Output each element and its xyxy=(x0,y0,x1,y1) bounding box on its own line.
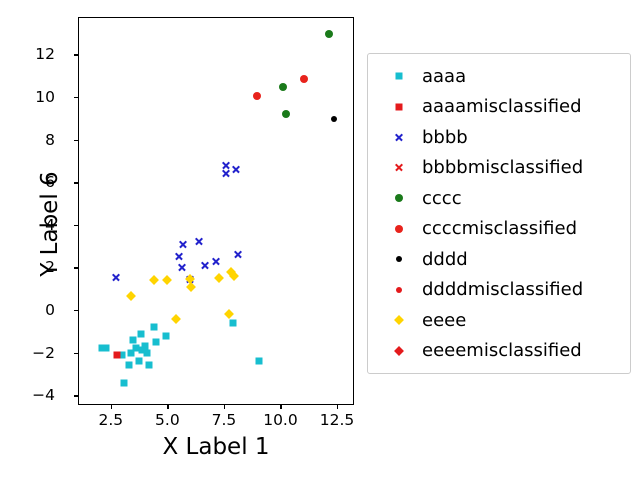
x-tick-label: 10.0 xyxy=(263,411,298,429)
data-point-aaaa xyxy=(125,362,132,369)
data-point-bbbb xyxy=(112,273,121,282)
data-point-aaaa xyxy=(143,349,150,356)
legend-item-dddd[interactable]: dddd xyxy=(376,244,622,275)
y-tick-label: 2 xyxy=(45,258,55,276)
legend-item-label: aaaa xyxy=(422,66,466,87)
y-tick-label: 4 xyxy=(45,216,55,234)
data-point-cccc xyxy=(282,110,290,118)
data-point-dddd xyxy=(331,116,337,122)
legend-item-bbbbmisclassified[interactable]: bbbbmisclassified xyxy=(376,153,622,184)
legend-marker-star-icon xyxy=(396,256,402,262)
data-point-eeee xyxy=(171,314,181,324)
y-tick-label: −4 xyxy=(32,386,55,404)
legend-marker-square-icon xyxy=(396,103,403,110)
legend-marker-star-icon xyxy=(376,244,422,275)
legend-marker-diamond-icon xyxy=(376,336,422,367)
legend-marker-x-icon xyxy=(395,133,404,142)
y-tick-label: 12 xyxy=(35,45,55,63)
legend-item-cccc[interactable]: cccc xyxy=(376,183,622,214)
data-point-aaaa xyxy=(146,362,153,369)
legend-marker-star-icon xyxy=(396,287,402,293)
legend-marker-diamond-icon xyxy=(376,305,422,336)
data-point-bbbb xyxy=(194,237,203,246)
y-tick-label: 10 xyxy=(35,88,55,106)
x-tick-label: 2.5 xyxy=(98,411,123,429)
legend-item-label: bbbb xyxy=(422,127,468,148)
legend-marker-square-icon xyxy=(376,61,422,92)
legend-marker-diamond-icon xyxy=(394,346,404,356)
y-tick-label: −2 xyxy=(32,344,55,362)
x-tick-mark xyxy=(337,405,338,409)
legend-marker-square-icon xyxy=(376,92,422,123)
plot-axes-frame xyxy=(78,17,354,405)
x-tick-label: 5.0 xyxy=(155,411,180,429)
legend-item-aaaamisclassified[interactable]: aaaamisclassified xyxy=(376,92,622,123)
y-tick-label: 8 xyxy=(45,131,55,149)
legend-item-ccccmisclassified[interactable]: ccccmisclassified xyxy=(376,214,622,245)
legend: aaaaaaaamisclassifiedbbbbbbbbmisclassifi… xyxy=(367,53,631,374)
data-point-aaaa xyxy=(163,332,170,339)
data-point-ccccmisclassified xyxy=(300,75,308,83)
legend-item-label: ddddmisclassified xyxy=(422,279,583,300)
data-point-aaaa xyxy=(135,358,142,365)
data-point-bbbb xyxy=(234,250,243,259)
data-point-ccccmisclassified xyxy=(253,92,261,100)
data-point-cccc xyxy=(325,30,333,38)
legend-marker-circle-icon xyxy=(376,214,422,245)
data-point-eeee xyxy=(126,291,136,301)
legend-marker-x-icon xyxy=(395,163,404,172)
data-points-layer xyxy=(79,18,353,404)
data-point-aaaa xyxy=(103,345,110,352)
legend-marker-circle-icon xyxy=(395,194,403,202)
legend-marker-star-icon xyxy=(376,275,422,306)
x-tick-label: 7.5 xyxy=(212,411,237,429)
legend-item-label: bbbbmisclassified xyxy=(422,157,583,178)
data-point-cccc xyxy=(279,83,287,91)
data-point-aaaa xyxy=(152,339,159,346)
data-point-aaaa xyxy=(150,324,157,331)
data-point-aaaa xyxy=(229,319,236,326)
data-point-eeee xyxy=(214,273,224,283)
data-point-eeee xyxy=(162,275,172,285)
legend-item-aaaa[interactable]: aaaa xyxy=(376,61,622,92)
x-axis-label: X Label 1 xyxy=(78,434,354,460)
data-point-eeee xyxy=(149,275,159,285)
legend-marker-x-icon xyxy=(376,122,422,153)
x-tick-label: 12.5 xyxy=(320,411,355,429)
data-point-aaaa xyxy=(138,330,145,337)
data-point-bbbb xyxy=(179,239,188,248)
data-point-eeee xyxy=(224,309,234,319)
x-tick-mark xyxy=(167,405,168,409)
data-point-bbbb xyxy=(232,165,241,174)
scatter-plot-figure: Y Label 6 −4−2024681012 2.55.07.510.012.… xyxy=(0,0,640,480)
legend-item-label: eeee xyxy=(422,310,466,331)
data-point-bbbb xyxy=(174,252,183,261)
y-tick-label: 0 xyxy=(45,301,55,319)
data-point-aaaa xyxy=(255,358,262,365)
data-point-bbbb xyxy=(222,169,231,178)
legend-item-eeeemisclassified[interactable]: eeeemisclassified xyxy=(376,336,622,367)
data-point-aaaa xyxy=(130,336,137,343)
data-point-aaaa xyxy=(121,379,128,386)
data-point-bbbb xyxy=(177,263,186,272)
legend-item-label: eeeemisclassified xyxy=(422,340,582,361)
legend-item-label: cccc xyxy=(422,188,462,209)
data-point-bbbb xyxy=(200,261,209,270)
legend-item-label: dddd xyxy=(422,249,468,270)
data-point-aaaamisclassified xyxy=(114,351,121,358)
legend-item-label: aaaamisclassified xyxy=(422,96,582,117)
legend-marker-diamond-icon xyxy=(394,315,404,325)
legend-marker-square-icon xyxy=(396,73,403,80)
x-tick-mark xyxy=(224,405,225,409)
legend-marker-x-icon xyxy=(376,153,422,184)
x-tick-mark xyxy=(280,405,281,409)
legend-item-bbbb[interactable]: bbbb xyxy=(376,122,622,153)
y-tick-label: 6 xyxy=(45,173,55,191)
legend-item-label: ccccmisclassified xyxy=(422,218,577,239)
legend-marker-circle-icon xyxy=(395,225,403,233)
legend-item-eeee[interactable]: eeee xyxy=(376,305,622,336)
x-tick-mark xyxy=(111,405,112,409)
legend-item-ddddmisclassified[interactable]: ddddmisclassified xyxy=(376,275,622,306)
data-point-bbbb xyxy=(211,257,220,266)
legend-marker-circle-icon xyxy=(376,183,422,214)
